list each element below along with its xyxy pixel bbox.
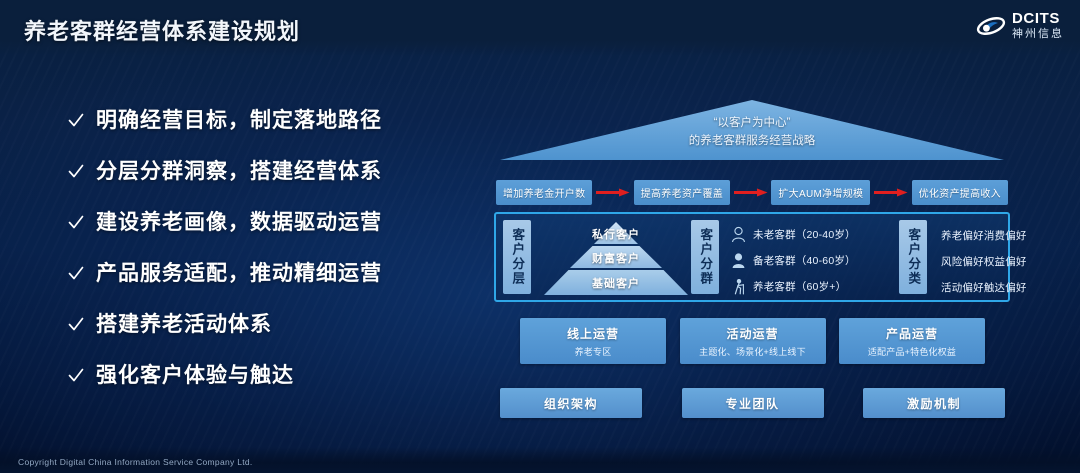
- check-icon: [68, 265, 84, 282]
- dcits-swirl-icon: [976, 12, 1006, 40]
- bullet-label: 分层分群洞察，搭建经营体系: [96, 155, 382, 185]
- foundation-card-title: 专业团队: [725, 395, 779, 412]
- bullet-item: 分层分群洞察，搭建经营体系: [68, 155, 468, 185]
- grouping-label: 客户分群: [691, 220, 719, 294]
- preference-item: 触达偏好: [984, 280, 1027, 295]
- check-icon: [68, 163, 84, 180]
- tiering-label-text: 客户分层: [511, 228, 524, 286]
- header-bar: 养老客群经营体系建设规划 DCITS 神州信息: [0, 0, 1080, 56]
- grouping-item: 未老客群（20-40岁）: [731, 221, 897, 247]
- bullet-label: 强化客户体验与触达: [96, 359, 294, 389]
- operations-card-subtitle: 养老专区: [575, 345, 612, 358]
- preference-grid: 养老偏好 消费偏好 风险偏好 权益偏好 活动偏好 触达偏好: [933, 218, 1029, 296]
- adult-person-icon: [731, 252, 746, 269]
- grouping-item-label: 备老客群（40-60岁）: [753, 253, 856, 268]
- bullet-item: 强化客户体验与触达: [68, 359, 468, 389]
- foundation-card-title: 激励机制: [907, 395, 961, 412]
- kpi-chain: 增加养老金开户数 提高养老资产覆盖 扩大AUM净增规模 优化资产提高收入: [496, 180, 1008, 205]
- bullet-item: 明确经营目标，制定落地路径: [68, 104, 468, 134]
- operations-card-subtitle: 主题化、场景化+线上线下: [699, 345, 806, 358]
- grouping-item: 养老客群（60岁+）: [731, 273, 897, 299]
- kpi-box[interactable]: 优化资产提高收入: [912, 180, 1008, 205]
- foundation-row: 组织架构 专业团队 激励机制: [500, 388, 1005, 418]
- operations-card-subtitle: 适配产品+特色化权益: [868, 345, 956, 358]
- classification-label-text: 客户分类: [907, 228, 920, 286]
- foundation-card[interactable]: 组织架构: [500, 388, 642, 418]
- bullet-label: 搭建养老活动体系: [96, 308, 272, 338]
- tier-pyramid: 私行客户 财富客户 基础客户: [537, 218, 689, 296]
- grouping-label-text: 客户分群: [699, 228, 712, 286]
- copyright-text: Copyright Digital China Information Serv…: [18, 457, 253, 467]
- bullet-label: 建设养老画像，数据驱动运营: [96, 206, 382, 236]
- grouping-list: 未老客群（20-40岁） 备老客群（40-60岁）: [725, 218, 897, 296]
- strategy-line-1: “以客户为中心”: [492, 114, 1012, 132]
- grouping-item-label: 养老客群（60岁+）: [753, 279, 846, 294]
- foundation-card[interactable]: 专业团队: [682, 388, 824, 418]
- logo-text-cn: 神州信息: [1012, 29, 1064, 40]
- operations-card-title: 线上运营: [567, 325, 619, 342]
- strategy-banner: “以客户为中心” 的养老客群服务经营战略: [492, 114, 1012, 151]
- arrow-right-icon: [734, 188, 768, 197]
- check-icon: [68, 367, 84, 384]
- bullet-label: 明确经营目标，制定落地路径: [96, 104, 382, 134]
- classification-label: 客户分类: [899, 220, 927, 294]
- preference-item: 权益偏好: [984, 254, 1027, 269]
- bullet-item: 搭建养老活动体系: [68, 308, 468, 338]
- young-person-icon: [731, 226, 746, 243]
- elderly-person-icon: [731, 278, 746, 295]
- kpi-box[interactable]: 扩大AUM净增规模: [771, 180, 870, 205]
- bullet-label: 产品服务适配，推动精细运营: [96, 257, 382, 287]
- tier-level-label: 财富客户: [543, 250, 689, 266]
- foundation-card-title: 组织架构: [544, 395, 598, 412]
- grouping-item-label: 未老客群（20-40岁）: [753, 227, 856, 242]
- tiering-label: 客户分层: [503, 220, 531, 294]
- operations-card-title: 活动运营: [726, 325, 778, 342]
- bullet-item: 建设养老画像，数据驱动运营: [68, 206, 468, 236]
- kpi-box[interactable]: 提高养老资产覆盖: [634, 180, 730, 205]
- check-icon: [68, 112, 84, 129]
- preference-item: 风险偏好: [941, 254, 984, 269]
- strategy-diagram: “以客户为中心” 的养老客群服务经营战略 增加养老金开户数 提高养老资产覆盖 扩…: [492, 92, 1012, 432]
- arrow-right-icon: [596, 188, 630, 197]
- bullet-item: 产品服务适配，推动精细运营: [68, 257, 468, 287]
- arrow-right-icon: [874, 188, 908, 197]
- page-title: 养老客群经营体系建设规划: [24, 14, 300, 46]
- foundation-card[interactable]: 激励机制: [863, 388, 1005, 418]
- customer-segmentation-panel: 客户分层: [494, 212, 1010, 302]
- logo-wordmark: DCITS 神州信息: [1012, 11, 1064, 40]
- operations-row: 线上运营 养老专区 活动运营 主题化、场景化+线上线下 产品运营 适配产品+特色…: [520, 318, 985, 364]
- operations-card[interactable]: 活动运营 主题化、场景化+线上线下: [680, 318, 826, 364]
- bullet-list: 明确经营目标，制定落地路径 分层分群洞察，搭建经营体系 建设养老画像，数据驱动运…: [68, 104, 468, 410]
- logo-text-en: DCITS: [1012, 11, 1064, 26]
- operations-card[interactable]: 线上运营 养老专区: [520, 318, 666, 364]
- preference-item: 消费偏好: [984, 228, 1027, 243]
- check-icon: [68, 316, 84, 333]
- tier-level-label: 私行客户: [543, 226, 689, 242]
- tier-level-label: 基础客户: [543, 275, 689, 291]
- kpi-box[interactable]: 增加养老金开户数: [496, 180, 592, 205]
- preference-item: 活动偏好: [941, 280, 984, 295]
- check-icon: [68, 214, 84, 231]
- slide-root: 养老客群经营体系建设规划 DCITS 神州信息 明确经营目标，制定落地路径: [0, 0, 1080, 473]
- operations-card[interactable]: 产品运营 适配产品+特色化权益: [839, 318, 985, 364]
- operations-card-title: 产品运营: [886, 325, 938, 342]
- brand-logo: DCITS 神州信息: [976, 11, 1064, 40]
- grouping-item: 备老客群（40-60岁）: [731, 247, 897, 273]
- preference-item: 养老偏好: [941, 228, 984, 243]
- strategy-line-2: 的养老客群服务经营战略: [492, 132, 1012, 150]
